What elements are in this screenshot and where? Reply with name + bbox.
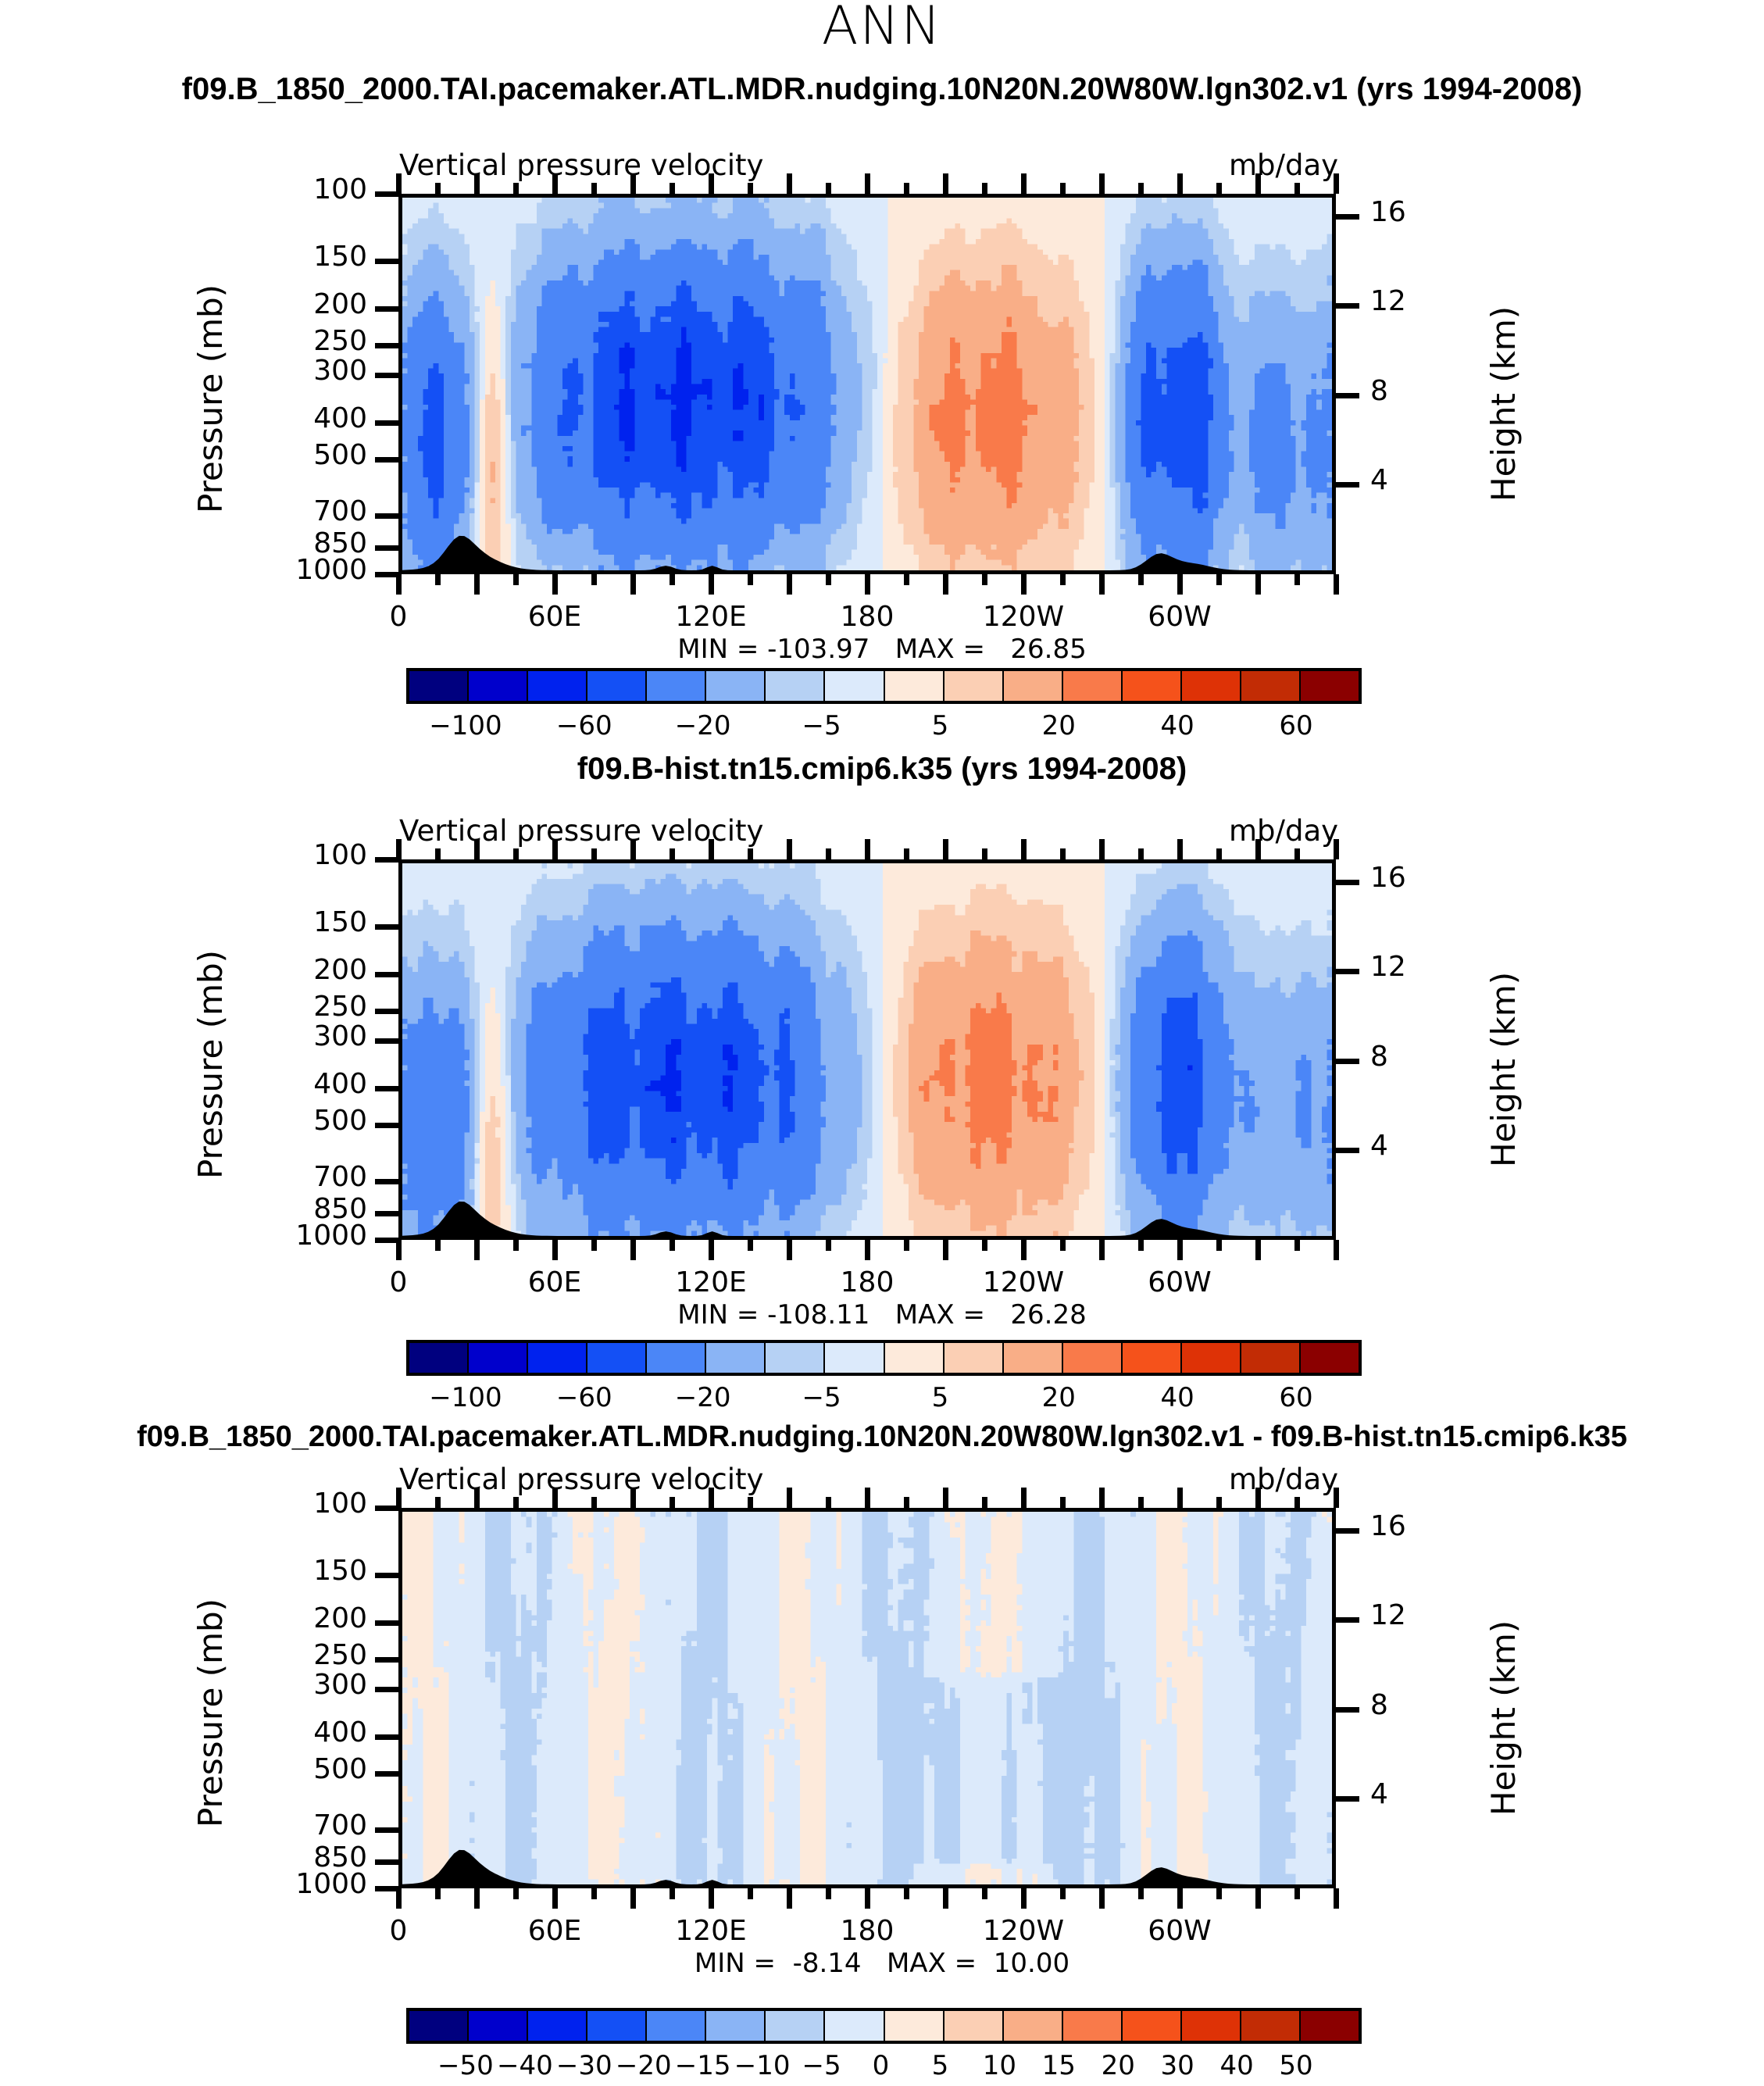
- colorbar-tick-label: −20: [675, 1382, 731, 1413]
- colorbar-tick-label: 20: [1042, 710, 1076, 741]
- panel-control-title: f09.B-hist.tn15.cmip6.k35 (yrs 1994-2008…: [0, 752, 1764, 787]
- pressure-tick-label: 250: [211, 991, 367, 1023]
- colorbar-swatch-11: [1063, 2011, 1123, 2041]
- lon-tickmark-bottom: [787, 1888, 792, 1909]
- colorbar-tick-label: −10: [734, 2050, 791, 2081]
- colorbar-tick-label: 50: [1279, 2050, 1312, 2081]
- lon-tickmark-top: [591, 848, 597, 859]
- lon-tickmark-bottom: [513, 1888, 519, 1899]
- pressure-tick-label: 300: [211, 355, 367, 387]
- lon-tick-label: 120E: [625, 601, 797, 633]
- lon-tickmark-bottom: [1334, 574, 1339, 595]
- lon-tickmark-top: [1021, 1488, 1027, 1508]
- lon-tickmark-bottom: [435, 1888, 441, 1899]
- lon-tick-label: 60W: [1094, 1915, 1266, 1947]
- height-axis-title: Height (km): [1484, 971, 1523, 1166]
- lon-tickmark-bottom: [943, 1240, 948, 1260]
- lon-tickmark-top: [630, 173, 636, 194]
- height-tickmark: [1336, 1707, 1359, 1713]
- lon-tickmark-top: [982, 183, 987, 194]
- colorbar-tick-label: −60: [556, 710, 612, 741]
- lon-tick-label: 120E: [625, 1266, 797, 1298]
- pressure-tickmark: [375, 1886, 398, 1891]
- lon-tickmark-bottom: [474, 1888, 480, 1909]
- lon-tickmark-bottom: [982, 1888, 987, 1899]
- colorbar-swatch-13: [1182, 671, 1241, 701]
- height-axis-title: Height (km): [1484, 1620, 1523, 1815]
- pressure-tick-label: 100: [211, 173, 367, 205]
- lon-tickmark-bottom: [1138, 1240, 1144, 1251]
- lon-tick-label: 60E: [469, 1266, 641, 1298]
- lon-tickmark-bottom: [982, 574, 987, 585]
- height-tick-label: 12: [1370, 951, 1406, 983]
- lon-tickmark-top: [1138, 848, 1144, 859]
- lon-tick-label: 120W: [937, 1915, 1109, 1947]
- panel-difference-minmax: MIN = -8.14 MAX = 10.00: [0, 1948, 1764, 1979]
- pressure-tickmark: [375, 1238, 398, 1243]
- pressure-tickmark: [375, 457, 398, 463]
- colorbar-tick-label: 5: [932, 2050, 949, 2081]
- height-tick-label: 8: [1370, 1041, 1388, 1073]
- colorbar-tick-label: 20: [1102, 2050, 1135, 2081]
- colorbar-swatch-14: [1241, 2011, 1301, 2041]
- lon-tickmark-bottom: [1021, 1888, 1027, 1909]
- colorbar-tick-label: 5: [932, 710, 949, 741]
- lon-tickmark-top: [865, 839, 870, 859]
- panel-case-colorbar-labels: −100−60−20−55204060: [0, 710, 1764, 746]
- lon-tickmark-bottom: [552, 1888, 558, 1909]
- pressure-tickmark: [375, 545, 398, 551]
- lon-tick-label: 60E: [469, 601, 641, 633]
- colorbar-swatch-15: [1301, 1343, 1359, 1373]
- colorbar-swatch-11: [1063, 671, 1123, 701]
- lon-tickmark-bottom: [1216, 1888, 1222, 1899]
- lon-tick-label: 60E: [469, 1915, 641, 1947]
- lon-tickmark-top: [435, 848, 441, 859]
- lon-tickmark-top: [1294, 1497, 1300, 1508]
- pressure-tick-label: 300: [211, 1020, 367, 1052]
- pressure-tickmark: [375, 1506, 398, 1511]
- colorbar-tick-label: −15: [675, 2050, 731, 2081]
- colorbar-tick-label: −5: [802, 2050, 841, 2081]
- lon-tick-label: 180: [781, 1915, 953, 1947]
- lon-tickmark-top: [435, 183, 441, 194]
- colorbar-tick-label: −5: [802, 710, 841, 741]
- lon-tickmark-bottom: [709, 1888, 714, 1909]
- lon-tickmark-bottom: [865, 574, 870, 595]
- height-axis-title: Height (km): [1484, 305, 1523, 501]
- contour-field: [402, 198, 1332, 570]
- lon-tickmark-top: [513, 183, 519, 194]
- lon-tickmark-top: [474, 839, 480, 859]
- pressure-tickmark: [375, 1211, 398, 1216]
- lon-tickmark-top: [748, 183, 753, 194]
- lon-tickmark-bottom: [630, 1888, 636, 1909]
- colorbar-swatch-2: [528, 1343, 587, 1373]
- colorbar-swatch-12: [1123, 2011, 1182, 2041]
- lon-tick-label: 0: [312, 1266, 484, 1298]
- contour-field: [402, 863, 1332, 1236]
- colorbar-swatch-3: [587, 1343, 647, 1373]
- lon-tickmark-top: [943, 839, 948, 859]
- pressure-tickmark: [375, 1657, 398, 1663]
- panel-case-minmax: MIN = -103.97 MAX = 26.85: [0, 634, 1764, 665]
- pressure-tick-label: 300: [211, 1669, 367, 1701]
- lon-tickmark-top: [670, 1497, 675, 1508]
- lon-tickmark-bottom: [1060, 1888, 1066, 1899]
- lon-tick-label: 180: [781, 1266, 953, 1298]
- colorbar-swatch-10: [1004, 1343, 1063, 1373]
- lon-tickmark-bottom: [1099, 574, 1105, 595]
- lon-tickmark-bottom: [748, 574, 753, 585]
- lon-tickmark-top: [435, 1497, 441, 1508]
- lon-tickmark-bottom: [1177, 574, 1183, 595]
- lon-tickmark-top: [904, 1497, 909, 1508]
- lon-tickmark-bottom: [396, 574, 402, 595]
- lon-tickmark-bottom: [1060, 1240, 1066, 1251]
- colorbar-tick-label: 40: [1219, 2050, 1253, 2081]
- height-tickmark: [1336, 214, 1359, 220]
- lon-tickmark-bottom: [748, 1240, 753, 1251]
- lon-tickmark-bottom: [943, 1888, 948, 1909]
- colorbar-swatch-1: [469, 1343, 528, 1373]
- lon-tickmark-top: [826, 1497, 831, 1508]
- lon-tickmark-bottom: [591, 574, 597, 585]
- height-tick-label: 4: [1370, 1778, 1388, 1810]
- pressure-tickmark: [375, 1123, 398, 1128]
- pressure-tick-label: 500: [211, 439, 367, 471]
- colorbar-swatch-15: [1301, 671, 1359, 701]
- figure-root: ANN f09.B_1850_2000.TAI.pacemaker.ATL.MD…: [0, 0, 1764, 2076]
- lon-tickmark-bottom: [943, 574, 948, 595]
- height-tick-label: 12: [1370, 1599, 1406, 1631]
- lon-tick-label: 60W: [1094, 1266, 1266, 1298]
- panel-difference-colorbar-labels: −50−40−30−20−15−10−505101520304050: [0, 2050, 1764, 2086]
- colorbar-tick-label: 10: [983, 2050, 1016, 2081]
- lon-tickmark-bottom: [826, 1240, 831, 1251]
- colorbar-tick-label: −60: [556, 1382, 612, 1413]
- colorbar-swatch-10: [1004, 671, 1063, 701]
- lon-tickmark-top: [591, 1497, 597, 1508]
- colorbar-tick-label: −40: [497, 2050, 553, 2081]
- colorbar-swatch-6: [766, 671, 825, 701]
- lon-tickmark-bottom: [826, 574, 831, 585]
- lon-tickmark-top: [1255, 1488, 1261, 1508]
- colorbar-tick-label: 5: [932, 1382, 949, 1413]
- lon-tickmark-top: [982, 1497, 987, 1508]
- lon-tick-label: 180: [781, 601, 953, 633]
- pressure-tick-label: 1000: [211, 554, 367, 586]
- lon-tickmark-top: [1138, 1497, 1144, 1508]
- panel-difference-colorbar: [406, 2008, 1362, 2044]
- height-tick-label: 4: [1370, 464, 1388, 496]
- height-tick-label: 16: [1370, 1510, 1406, 1542]
- pressure-tickmark: [375, 1038, 398, 1044]
- lon-tickmark-top: [1177, 173, 1183, 194]
- lon-tickmark-top: [1216, 848, 1222, 859]
- panel-difference-plot-area: [398, 1508, 1336, 1888]
- lon-tickmark-top: [1216, 1497, 1222, 1508]
- panel-control-colorbar-labels: −100−60−20−55204060: [0, 1382, 1764, 1418]
- lon-tickmark-top: [709, 1488, 714, 1508]
- pressure-tick-label: 500: [211, 1753, 367, 1785]
- pressure-tickmark: [375, 1771, 398, 1777]
- lon-tick-label: 60W: [1094, 601, 1266, 633]
- colorbar-swatch-3: [587, 671, 647, 701]
- panel-control-colorbar: [406, 1340, 1362, 1376]
- lon-tickmark-bottom: [1294, 1240, 1300, 1251]
- height-tick-label: 12: [1370, 285, 1406, 317]
- lon-tickmark-bottom: [1255, 574, 1261, 595]
- colorbar-tick-label: 30: [1161, 2050, 1194, 2081]
- pressure-tick-label: 250: [211, 1639, 367, 1671]
- lon-tickmark-top: [787, 839, 792, 859]
- height-tick-label: 8: [1370, 1689, 1388, 1721]
- lon-tickmark-top: [396, 173, 402, 194]
- lon-tickmark-bottom: [904, 574, 909, 585]
- lon-tickmark-top: [1060, 1497, 1066, 1508]
- pressure-tick-label: 400: [211, 402, 367, 434]
- height-tick-label: 16: [1370, 196, 1406, 228]
- lon-tickmark-bottom: [552, 1240, 558, 1260]
- colorbar-tick-label: 40: [1161, 710, 1194, 741]
- lon-tickmark-top: [396, 1488, 402, 1508]
- colorbar-swatch-0: [409, 2011, 469, 2041]
- colorbar-swatch-9: [944, 2011, 1004, 2041]
- colorbar-swatch-5: [706, 2011, 766, 2041]
- panel-case-title: f09.B_1850_2000.TAI.pacemaker.ATL.MDR.nu…: [0, 72, 1764, 107]
- lon-tickmark-top: [474, 1488, 480, 1508]
- lon-tickmark-bottom: [1177, 1240, 1183, 1260]
- colorbar-tick-label: −100: [429, 710, 502, 741]
- colorbar-tick-label: 40: [1161, 1382, 1194, 1413]
- pressure-tick-label: 200: [211, 288, 367, 320]
- lon-tickmark-top: [865, 173, 870, 194]
- pressure-tickmark: [375, 191, 398, 197]
- height-tickmark: [1336, 1528, 1359, 1534]
- colorbar-swatch-12: [1123, 671, 1182, 701]
- lon-tickmark-top: [552, 1488, 558, 1508]
- colorbar-tick-label: −5: [802, 1382, 841, 1413]
- contour-field: [402, 1512, 1332, 1884]
- lon-tickmark-bottom: [904, 1240, 909, 1251]
- lon-tickmark-bottom: [396, 1888, 402, 1909]
- pressure-tickmark: [375, 306, 398, 312]
- colorbar-swatch-1: [469, 671, 528, 701]
- lon-tick-label: 0: [312, 601, 484, 633]
- lon-tickmark-top: [630, 839, 636, 859]
- pressure-tick-label: 400: [211, 1716, 367, 1748]
- pressure-tick-label: 250: [211, 325, 367, 357]
- lon-tickmark-top: [591, 183, 597, 194]
- lon-tickmark-top: [709, 839, 714, 859]
- pressure-tick-label: 150: [211, 1555, 367, 1587]
- panel-case-colorbar: [406, 668, 1362, 704]
- lon-tickmark-bottom: [1334, 1240, 1339, 1260]
- height-tickmark: [1336, 393, 1359, 398]
- unit-label: mb/day: [1229, 1463, 1338, 1496]
- lon-tickmark-top: [748, 848, 753, 859]
- lon-tickmark-top: [1138, 183, 1144, 194]
- colorbar-swatch-6: [766, 2011, 825, 2041]
- colorbar-swatch-14: [1241, 1343, 1301, 1373]
- pressure-tick-label: 150: [211, 906, 367, 938]
- lon-tickmark-top: [1216, 183, 1222, 194]
- lon-tickmark-top: [904, 848, 909, 859]
- lon-tickmark-bottom: [1060, 574, 1066, 585]
- pressure-tickmark: [375, 1620, 398, 1626]
- pressure-tickmark: [375, 1573, 398, 1578]
- colorbar-swatch-8: [885, 671, 944, 701]
- lon-tickmark-bottom: [435, 574, 441, 585]
- lon-tickmark-bottom: [513, 574, 519, 585]
- colorbar-swatch-1: [469, 2011, 528, 2041]
- lon-tick-label: 0: [312, 1915, 484, 1947]
- lon-tickmark-bottom: [787, 574, 792, 595]
- pressure-tickmark: [375, 972, 398, 977]
- lon-tickmark-bottom: [1216, 574, 1222, 585]
- season-title: ANN: [0, 0, 1764, 57]
- pressure-tickmark: [375, 1687, 398, 1692]
- panel-control-minmax: MIN = -108.11 MAX = 26.28: [0, 1299, 1764, 1331]
- pressure-tickmark: [375, 1859, 398, 1865]
- lon-tickmark-bottom: [748, 1888, 753, 1899]
- colorbar-swatch-10: [1004, 2011, 1063, 2041]
- lon-tick-label: 120W: [937, 601, 1109, 633]
- lon-tickmark-top: [1334, 1488, 1339, 1508]
- lon-tickmark-bottom: [904, 1888, 909, 1899]
- pressure-tickmark: [375, 259, 398, 264]
- colorbar-swatch-0: [409, 1343, 469, 1373]
- pressure-tickmark: [375, 1086, 398, 1091]
- lon-tickmark-top: [1177, 839, 1183, 859]
- lon-tickmark-top: [1255, 173, 1261, 194]
- height-tickmark: [1336, 1059, 1359, 1064]
- lon-tickmark-top: [1334, 839, 1339, 859]
- pressure-tick-label: 400: [211, 1068, 367, 1100]
- pressure-tickmark: [375, 1734, 398, 1740]
- lon-tickmark-bottom: [396, 1240, 402, 1260]
- height-tick-label: 16: [1370, 862, 1406, 894]
- colorbar-swatch-6: [766, 1343, 825, 1373]
- colorbar-tick-label: 15: [1042, 2050, 1076, 2081]
- lon-tickmark-top: [1021, 173, 1027, 194]
- lon-tickmark-bottom: [630, 574, 636, 595]
- lon-tickmark-bottom: [1099, 1240, 1105, 1260]
- panel-difference-title: f09.B_1850_2000.TAI.pacemaker.ATL.MDR.nu…: [0, 1420, 1764, 1454]
- colorbar-swatch-14: [1241, 671, 1301, 701]
- lon-tickmark-top: [943, 1488, 948, 1508]
- lon-tickmark-top: [826, 848, 831, 859]
- lon-tickmark-bottom: [865, 1240, 870, 1260]
- lon-tickmark-bottom: [982, 1240, 987, 1251]
- pressure-tick-label: 1000: [211, 1868, 367, 1900]
- lon-tickmark-bottom: [435, 1240, 441, 1251]
- lon-tickmark-top: [1255, 839, 1261, 859]
- lon-tickmark-top: [982, 848, 987, 859]
- lon-tickmark-bottom: [709, 574, 714, 595]
- lon-tickmark-bottom: [670, 1888, 675, 1899]
- colorbar-swatch-15: [1301, 2011, 1359, 2041]
- colorbar-tick-label: −100: [429, 1382, 502, 1413]
- height-tickmark: [1336, 969, 1359, 974]
- lon-tickmark-bottom: [1021, 1240, 1027, 1260]
- lon-tickmark-top: [396, 839, 402, 859]
- unit-label: mb/day: [1229, 814, 1338, 848]
- pressure-tick-label: 1000: [211, 1220, 367, 1252]
- pressure-tick-label: 150: [211, 241, 367, 273]
- pressure-tickmark: [375, 420, 398, 426]
- colorbar-swatch-11: [1063, 1343, 1123, 1373]
- colorbar-tick-label: −20: [675, 710, 731, 741]
- colorbar-swatch-4: [647, 1343, 706, 1373]
- lon-tickmark-top: [630, 1488, 636, 1508]
- lon-tickmark-top: [709, 173, 714, 194]
- pressure-tickmark: [375, 1009, 398, 1014]
- lon-tickmark-top: [1060, 848, 1066, 859]
- lon-tickmark-top: [748, 1497, 753, 1508]
- height-tick-label: 4: [1370, 1130, 1388, 1162]
- height-tickmark: [1336, 303, 1359, 309]
- colorbar-swatch-12: [1123, 1343, 1182, 1373]
- pressure-tickmark: [375, 1179, 398, 1184]
- lon-tickmark-top: [1177, 1488, 1183, 1508]
- panel-case-plot-area: [398, 194, 1336, 574]
- lon-tickmark-bottom: [670, 574, 675, 585]
- colorbar-swatch-8: [885, 1343, 944, 1373]
- lon-tickmark-top: [474, 173, 480, 194]
- lon-tickmark-bottom: [591, 1888, 597, 1899]
- lon-tickmark-bottom: [552, 574, 558, 595]
- colorbar-swatch-9: [944, 1343, 1004, 1373]
- lon-tickmark-bottom: [513, 1240, 519, 1251]
- unit-label: mb/day: [1229, 148, 1338, 182]
- lon-tick-label: 120E: [625, 1915, 797, 1947]
- colorbar-tick-label: −30: [556, 2050, 612, 2081]
- pressure-tick-label: 500: [211, 1105, 367, 1137]
- pressure-tickmark: [375, 924, 398, 930]
- colorbar-swatch-7: [825, 671, 884, 701]
- pressure-tickmark: [375, 857, 398, 863]
- lon-tickmark-bottom: [1216, 1240, 1222, 1251]
- height-tickmark: [1336, 1617, 1359, 1623]
- colorbar-swatch-2: [528, 2011, 587, 2041]
- lon-tickmark-top: [787, 1488, 792, 1508]
- colorbar-tick-label: 60: [1279, 710, 1312, 741]
- lon-tickmark-top: [904, 183, 909, 194]
- lon-tickmark-top: [865, 1488, 870, 1508]
- lon-tickmark-bottom: [1138, 1888, 1144, 1899]
- colorbar-swatch-5: [706, 671, 766, 701]
- lon-tickmark-top: [943, 173, 948, 194]
- pressure-tick-label: 700: [211, 1161, 367, 1193]
- pressure-tick-label: 200: [211, 954, 367, 986]
- pressure-axis-title: Pressure (mb): [191, 284, 230, 513]
- lon-tickmark-bottom: [1255, 1240, 1261, 1260]
- pressure-tick-label: 100: [211, 839, 367, 871]
- lon-tickmark-top: [1334, 173, 1339, 194]
- lon-tickmark-bottom: [630, 1240, 636, 1260]
- lon-tickmark-bottom: [1099, 1888, 1105, 1909]
- lon-tickmark-top: [787, 173, 792, 194]
- height-tickmark: [1336, 880, 1359, 885]
- colorbar-swatch-0: [409, 671, 469, 701]
- height-tickmark: [1336, 482, 1359, 488]
- lon-tickmark-top: [1099, 1488, 1105, 1508]
- colorbar-swatch-4: [647, 671, 706, 701]
- colorbar-swatch-9: [944, 671, 1004, 701]
- lon-tickmark-top: [552, 173, 558, 194]
